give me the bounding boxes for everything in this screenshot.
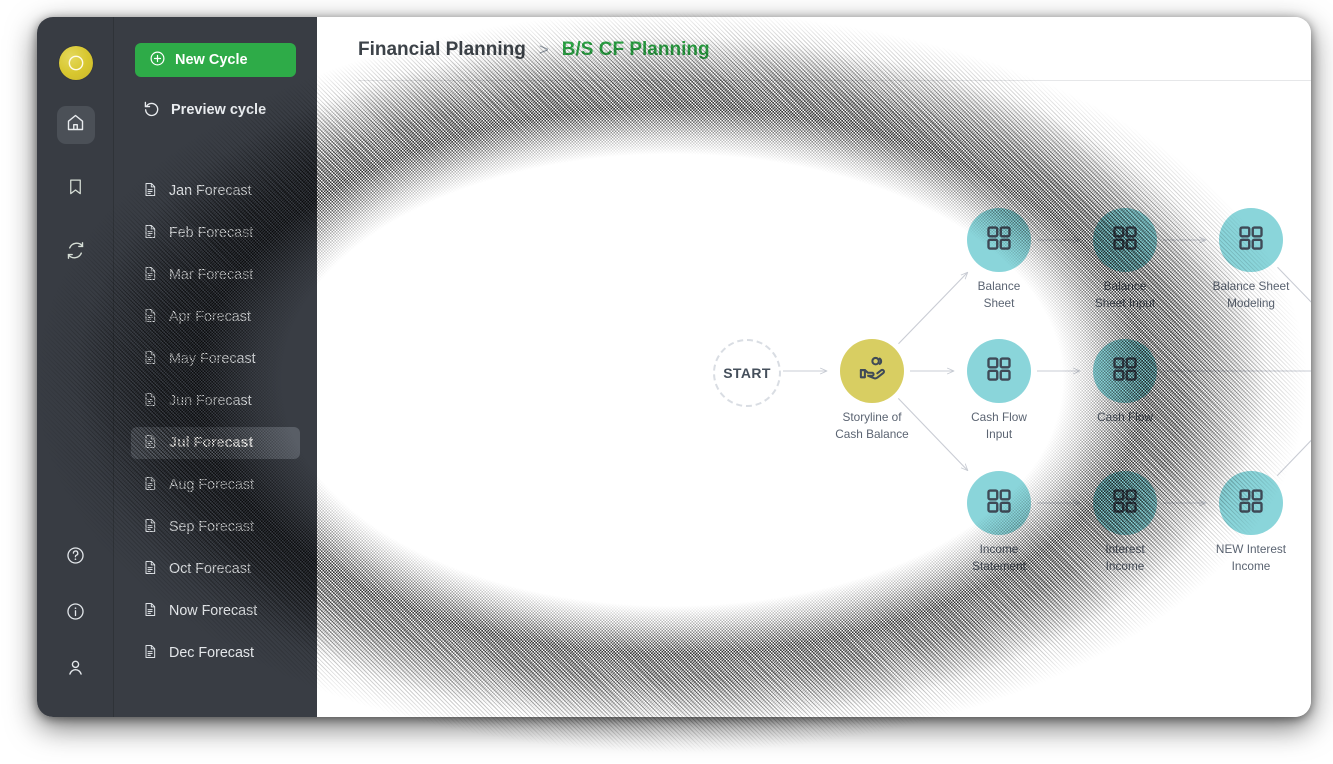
cycle-nav-panel: New Cycle Preview cycle Jan ForecastFeb … — [114, 17, 317, 717]
flow-node-bsi[interactable]: BalanceSheet Input — [1093, 208, 1157, 272]
compass-icon[interactable] — [59, 46, 93, 80]
forecast-list: Jan ForecastFeb ForecastMar ForecastApr … — [114, 175, 317, 669]
help-circle-icon — [65, 545, 86, 571]
breadcrumb-current[interactable]: B/S CF Planning — [562, 39, 710, 61]
account-button[interactable] — [57, 651, 95, 689]
document-icon — [142, 265, 158, 286]
home-icon — [65, 112, 86, 138]
node-circle[interactable] — [1093, 208, 1157, 272]
grid-icon — [1110, 354, 1140, 389]
sidebar-item-sync[interactable] — [57, 234, 95, 272]
node-circle[interactable] — [840, 339, 904, 403]
sidebar-item-label: May Forecast — [169, 351, 256, 367]
flow-node-is[interactable]: IncomeStatement — [967, 471, 1031, 535]
flow-edges — [317, 81, 1311, 717]
sidebar-item-label: Mar Forecast — [169, 267, 253, 283]
node-label: NEW InterestIncome — [1216, 541, 1286, 574]
sidebar-item-label: Jul Forecast — [169, 435, 253, 451]
document-icon — [142, 517, 158, 538]
document-icon — [142, 223, 158, 244]
preview-cycle-label: Preview cycle — [171, 102, 266, 118]
start-node-circle[interactable]: START — [713, 339, 781, 407]
document-icon — [142, 475, 158, 496]
node-circle[interactable] — [967, 471, 1031, 535]
sidebar-item-sep-forecast[interactable]: Sep Forecast — [131, 511, 300, 543]
node-circle[interactable] — [1093, 339, 1157, 403]
info-button[interactable] — [57, 595, 95, 633]
flow-node-bsm[interactable]: Balance SheetModeling — [1219, 208, 1283, 272]
document-icon — [142, 181, 158, 202]
sidebar-item-now-forecast[interactable]: Now Forecast — [131, 595, 300, 627]
sidebar-item-oct-forecast[interactable]: Oct Forecast — [131, 553, 300, 585]
breadcrumb-root[interactable]: Financial Planning — [358, 39, 526, 61]
document-icon — [142, 433, 158, 454]
chevron-right-icon: > — [539, 40, 549, 60]
flow-edge-story-to-bs — [899, 272, 968, 343]
flow-edge-nii-to-cfrfwd — [1277, 403, 1311, 475]
document-icon — [142, 643, 158, 664]
grid-icon — [1236, 486, 1266, 521]
flow-diagram-canvas[interactable]: STARTStoryline ofCash BalanceBalanceShee… — [317, 81, 1311, 717]
document-icon — [142, 601, 158, 622]
app-window: New Cycle Preview cycle Jan ForecastFeb … — [37, 17, 1311, 717]
plus-circle-icon — [149, 50, 166, 71]
sidebar-item-may-forecast[interactable]: May Forecast — [131, 343, 300, 375]
help-button[interactable] — [57, 539, 95, 577]
icon-rail — [37, 17, 114, 717]
content-area: Financial Planning > B/S CF Planning STA… — [317, 17, 1311, 717]
grid-icon — [984, 354, 1014, 389]
grid-icon — [1110, 486, 1140, 521]
flow-node-ii[interactable]: InterestIncome — [1093, 471, 1157, 535]
node-label: IncomeStatement — [972, 541, 1026, 574]
node-circle[interactable] — [1093, 471, 1157, 535]
info-circle-icon — [65, 601, 86, 627]
undo-rotate-icon — [142, 99, 161, 122]
document-icon — [142, 307, 158, 328]
grid-icon — [1110, 223, 1140, 258]
sidebar-item-jan-forecast[interactable]: Jan Forecast — [131, 175, 300, 207]
sidebar-item-label: Now Forecast — [169, 603, 257, 619]
node-circle[interactable] — [1219, 471, 1283, 535]
node-label: BalanceSheet — [978, 278, 1021, 311]
sidebar-item-jun-forecast[interactable]: Jun Forecast — [131, 385, 300, 417]
document-icon — [142, 391, 158, 412]
node-label: Balance SheetModeling — [1213, 278, 1290, 311]
flow-node-cf[interactable]: Cash Flow — [1093, 339, 1157, 403]
grid-icon — [984, 486, 1014, 521]
sidebar-item-label: Dec Forecast — [169, 645, 254, 661]
document-icon — [142, 349, 158, 370]
flow-node-bs[interactable]: BalanceSheet — [967, 208, 1031, 272]
refresh-icon — [65, 240, 86, 266]
sidebar-item-jul-forecast[interactable]: Jul Forecast — [131, 427, 300, 459]
start-label: START — [723, 365, 771, 381]
sidebar-item-apr-forecast[interactable]: Apr Forecast — [131, 301, 300, 333]
sidebar-item-home[interactable] — [57, 106, 95, 144]
sidebar-item-label: Aug Forecast — [169, 477, 254, 493]
node-circle[interactable] — [1219, 208, 1283, 272]
flow-node-story[interactable]: Storyline ofCash Balance — [840, 339, 904, 403]
sidebar-item-label: Oct Forecast — [169, 561, 251, 577]
node-circle[interactable] — [967, 208, 1031, 272]
node-label: Cash FlowInput — [971, 409, 1027, 442]
preview-cycle-button[interactable]: Preview cycle — [135, 95, 296, 125]
node-label: InterestIncome — [1105, 541, 1144, 574]
sidebar-item-feb-forecast[interactable]: Feb Forecast — [131, 217, 300, 249]
user-icon — [65, 657, 86, 683]
hand-coins-icon — [857, 353, 888, 389]
sidebar-item-label: Jun Forecast — [169, 393, 252, 409]
new-cycle-label: New Cycle — [175, 52, 248, 68]
sidebar-item-label: Apr Forecast — [169, 309, 251, 325]
grid-icon — [1236, 223, 1266, 258]
document-icon — [142, 559, 158, 580]
sidebar-item-dec-forecast[interactable]: Dec Forecast — [131, 637, 300, 669]
bookmark-icon — [66, 177, 85, 201]
sidebar-item-label: Jan Forecast — [169, 183, 252, 199]
node-circle[interactable] — [967, 339, 1031, 403]
grid-icon — [984, 223, 1014, 258]
rail-bottom-group — [57, 521, 95, 717]
node-label: Cash Flow — [1097, 409, 1153, 426]
sidebar-item-label: Feb Forecast — [169, 225, 253, 241]
flow-node-start[interactable]: START — [713, 339, 781, 407]
sidebar-item-bookmarks[interactable] — [57, 170, 95, 208]
new-cycle-button[interactable]: New Cycle — [135, 43, 296, 77]
node-label: Storyline ofCash Balance — [835, 409, 908, 442]
flow-node-cfi[interactable]: Cash FlowInput — [967, 339, 1031, 403]
flow-node-nii[interactable]: NEW InterestIncome — [1219, 471, 1283, 535]
sidebar-item-aug-forecast[interactable]: Aug Forecast — [131, 469, 300, 501]
sidebar-item-label: Sep Forecast — [169, 519, 254, 535]
node-label: BalanceSheet Input — [1095, 278, 1155, 311]
breadcrumb: Financial Planning > B/S CF Planning — [358, 39, 710, 61]
sidebar-item-mar-forecast[interactable]: Mar Forecast — [131, 259, 300, 291]
